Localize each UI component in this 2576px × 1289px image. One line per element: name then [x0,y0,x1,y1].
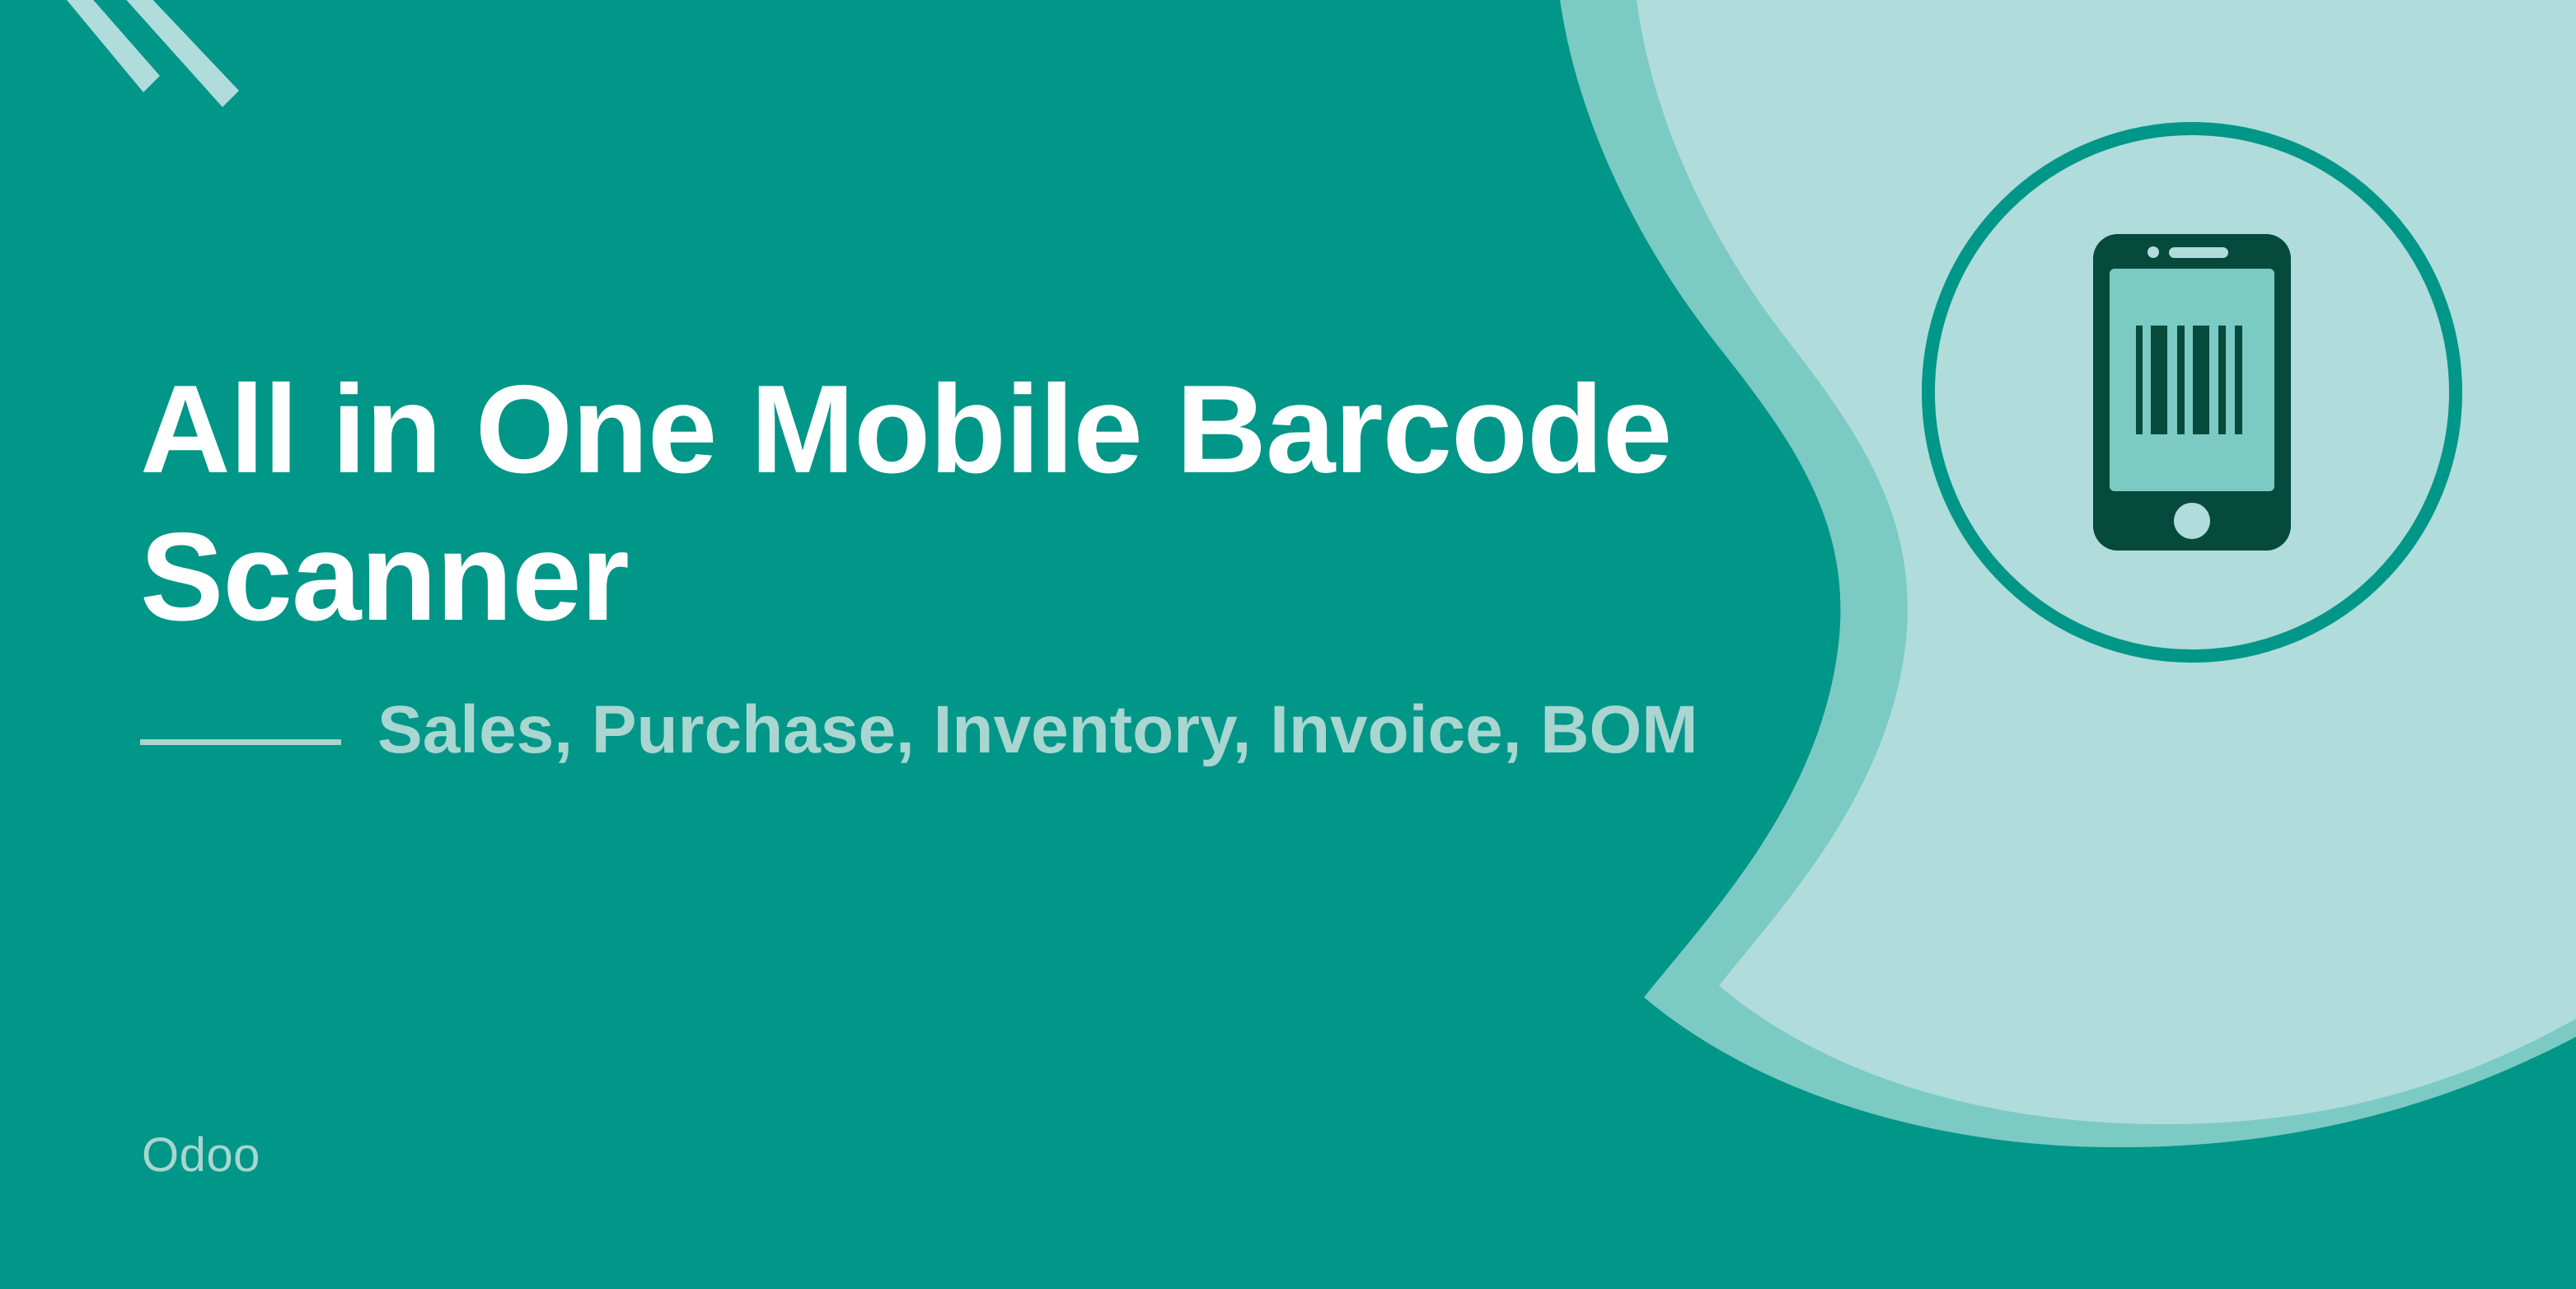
phone-speaker-icon [2169,247,2228,258]
page-subtitle: Sales, Purchase, Inventory, Invoice, BOM [377,688,1698,772]
subtitle-rule [140,739,341,745]
barcode-bar [2177,326,2185,434]
barcode-bar [2218,326,2226,434]
barcode-bar [2193,326,2209,434]
corner-stripes-decoration [0,0,297,148]
phone-screen-icon [2110,269,2274,491]
barcode-bar [2235,326,2242,434]
title-slide: All in One Mobile Barcode Scanner Sales,… [0,0,2576,1289]
brand-name: Odoo [142,1127,260,1183]
barcode-bar [2136,326,2143,434]
subtitle-row: Sales, Purchase, Inventory, Invoice, BOM [140,688,1755,772]
badge-svg [1922,122,2462,663]
barcode-bar [2151,326,2167,434]
mobile-barcode-scanner-badge [1922,122,2462,663]
page-title: All in One Mobile Barcode Scanner [140,356,1689,652]
phone-home-button-icon [2174,503,2210,539]
title-text-block: All in One Mobile Barcode Scanner Sales,… [140,356,1755,771]
phone-camera-icon [2147,246,2159,258]
